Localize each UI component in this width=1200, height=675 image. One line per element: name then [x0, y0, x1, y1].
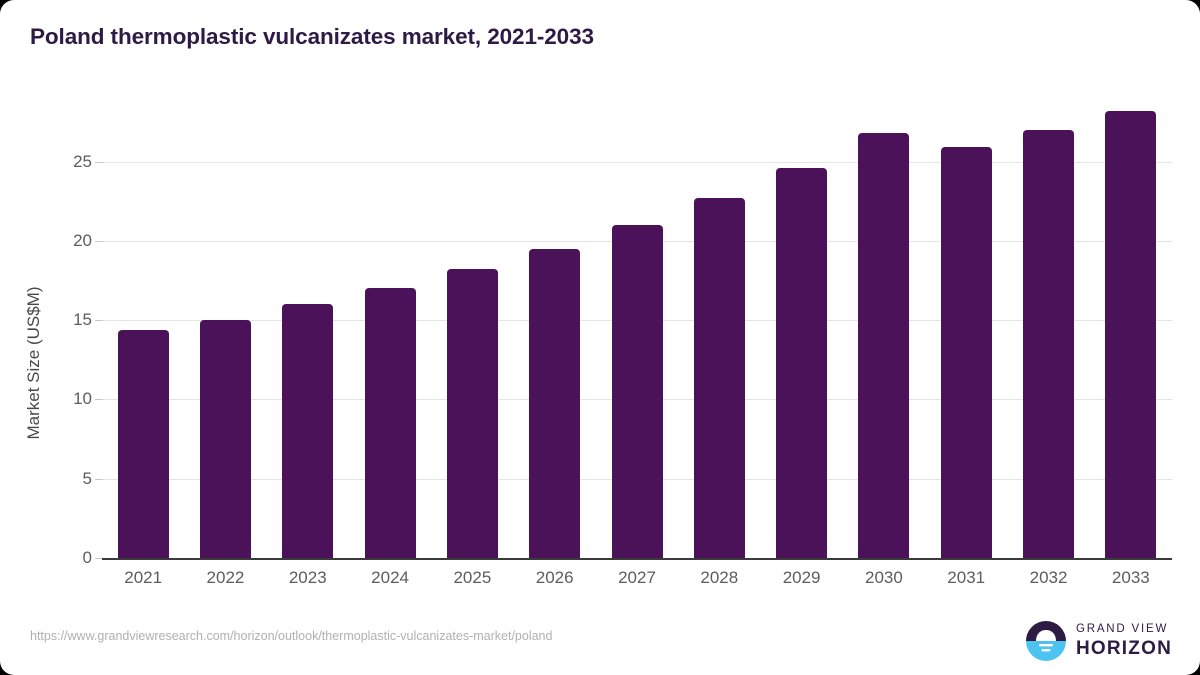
bar-2032[interactable] [1023, 130, 1074, 558]
x-axis-label-2025: 2025 [431, 568, 513, 588]
x-axis-label-2031: 2031 [925, 568, 1007, 588]
x-axis-label-2029: 2029 [760, 568, 842, 588]
y-tickmark [95, 479, 103, 480]
y-axis-label: 5 [48, 469, 92, 489]
bar-2030[interactable] [858, 133, 909, 558]
chart-plot-area: Market Size (US$M) 0510152025 2021202220… [0, 0, 1200, 675]
chart-card: Poland thermoplastic vulcanizates market… [0, 0, 1200, 675]
logo-line-2: HORIZON [1076, 639, 1172, 658]
bar-2031[interactable] [941, 147, 992, 558]
bar-2024[interactable] [365, 288, 416, 558]
grand-view-horizon-logo-icon [1025, 620, 1067, 662]
y-axis-label: 20 [48, 231, 92, 251]
y-axis-label: 0 [48, 548, 92, 568]
brand-logo[interactable]: GRAND VIEW HORIZON [1025, 620, 1172, 662]
x-axis-label-2024: 2024 [349, 568, 431, 588]
x-axis-label-2022: 2022 [184, 568, 266, 588]
y-tickmark [95, 162, 103, 163]
x-axis-label-2028: 2028 [678, 568, 760, 588]
y-tickmark [95, 320, 103, 321]
y-axis-label: 25 [48, 152, 92, 172]
bar-2022[interactable] [200, 320, 251, 558]
y-axis-label: 10 [48, 389, 92, 409]
x-axis-line [102, 558, 1172, 560]
bar-2025[interactable] [447, 269, 498, 558]
bar-2023[interactable] [282, 304, 333, 558]
y-tickmark [95, 241, 103, 242]
x-axis-label-2027: 2027 [596, 568, 678, 588]
x-axis-label-2021: 2021 [102, 568, 184, 588]
logo-wordmark: GRAND VIEW HORIZON [1076, 624, 1172, 658]
x-axis-label-2030: 2030 [843, 568, 925, 588]
bar-2021[interactable] [118, 330, 169, 558]
x-axis-label-2033: 2033 [1090, 568, 1172, 588]
logo-line-1: GRAND VIEW [1076, 624, 1172, 636]
bar-2029[interactable] [776, 168, 827, 558]
x-axis-label-2026: 2026 [514, 568, 596, 588]
bar-2026[interactable] [529, 249, 580, 558]
y-axis-title: Market Size (US$M) [24, 163, 44, 563]
bar-2033[interactable] [1105, 111, 1156, 558]
source-url[interactable]: https://www.grandviewresearch.com/horizo… [30, 629, 552, 643]
gridline [102, 162, 1172, 163]
x-axis-label-2023: 2023 [267, 568, 349, 588]
y-axis-label: 15 [48, 310, 92, 330]
y-tickmark [95, 399, 103, 400]
x-axis-label-2032: 2032 [1007, 568, 1089, 588]
bar-2028[interactable] [694, 198, 745, 558]
bar-2027[interactable] [612, 225, 663, 558]
